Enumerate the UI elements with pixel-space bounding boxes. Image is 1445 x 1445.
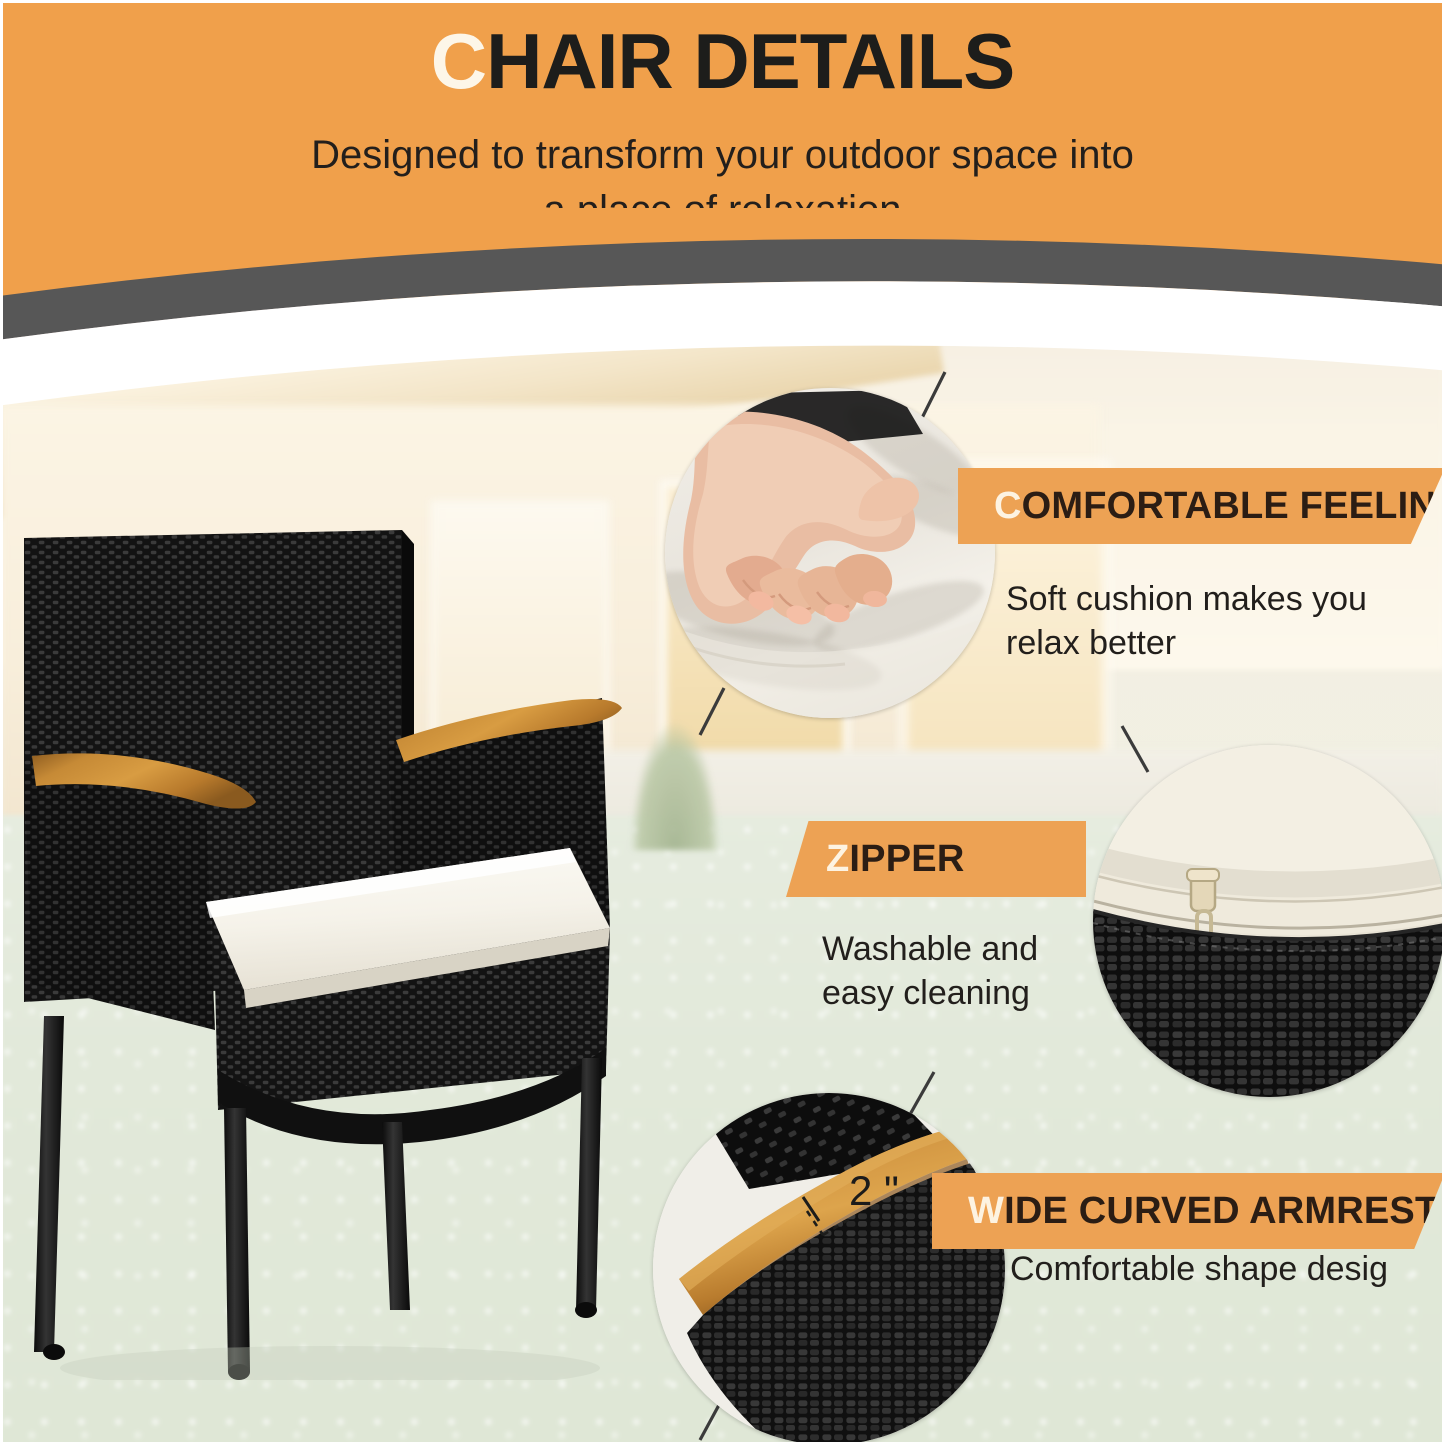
callout-description-comfortable-feeling: Soft cushion makes you relax better (1006, 578, 1406, 665)
rattan-armchair-illustration (10, 510, 670, 1380)
callout-title-lead-1: C (994, 485, 1022, 527)
callout-image-wide-curved-armrest: 2 " (653, 1093, 1005, 1445)
callout-description-zipper: Washable and easy cleaning (822, 928, 1082, 1015)
callout-title-zipper: ZIPPER (826, 838, 964, 881)
callout-title-comfortable-feeling: COMFORTABLE FEELING (994, 485, 1445, 528)
header-band: CHAIR DETAILS Designed to transform your… (0, 0, 1445, 300)
page-title: CHAIR DETAILS (0, 22, 1445, 100)
callout-title-lead-2: Z (826, 838, 849, 880)
callout-title-wide-curved-armrest: WIDE CURVED ARMREST (968, 1190, 1438, 1233)
callout-title-rest-1: OMFORTABLE FEELING (1022, 485, 1445, 527)
hand-icon (683, 411, 919, 627)
callout-banner-wide-curved-armrest: WIDE CURVED ARMREST (932, 1173, 1445, 1249)
page-title-lead: C (431, 17, 486, 105)
infographic-canvas: 2 " CHAIR DETAILS Designed to transform … (0, 0, 1445, 1445)
chair-leg-front-left (34, 1016, 64, 1352)
callout-description-wide-curved-armrest: Comfortable shape desig (1010, 1248, 1440, 1292)
callout-title-lead-3: W (968, 1190, 1004, 1232)
page-subtitle: Designed to transform your outdoor space… (0, 128, 1445, 238)
chair-leg-front-center (224, 1108, 250, 1372)
callout-title-rest-3: IDE CURVED ARMREST (1004, 1190, 1438, 1232)
measurement-label: 2 " (849, 1167, 899, 1214)
callout-title-rest-2: IPPER (849, 838, 964, 880)
chair-leg-back (382, 1122, 410, 1310)
page-subtitle-line2: a place of relaxation (0, 183, 1445, 238)
page-subtitle-line1: Designed to transform your outdoor space… (0, 128, 1445, 183)
page-title-rest: HAIR DETAILS (486, 17, 1014, 105)
chair-leg-front-right (576, 1058, 602, 1310)
callout-image-comfortable-feeling (665, 388, 995, 718)
callout-banner-comfortable-feeling: COMFORTABLE FEELING (958, 468, 1445, 544)
callout-banner-zipper: ZIPPER (786, 821, 1086, 897)
callout-image-zipper (1093, 745, 1445, 1097)
